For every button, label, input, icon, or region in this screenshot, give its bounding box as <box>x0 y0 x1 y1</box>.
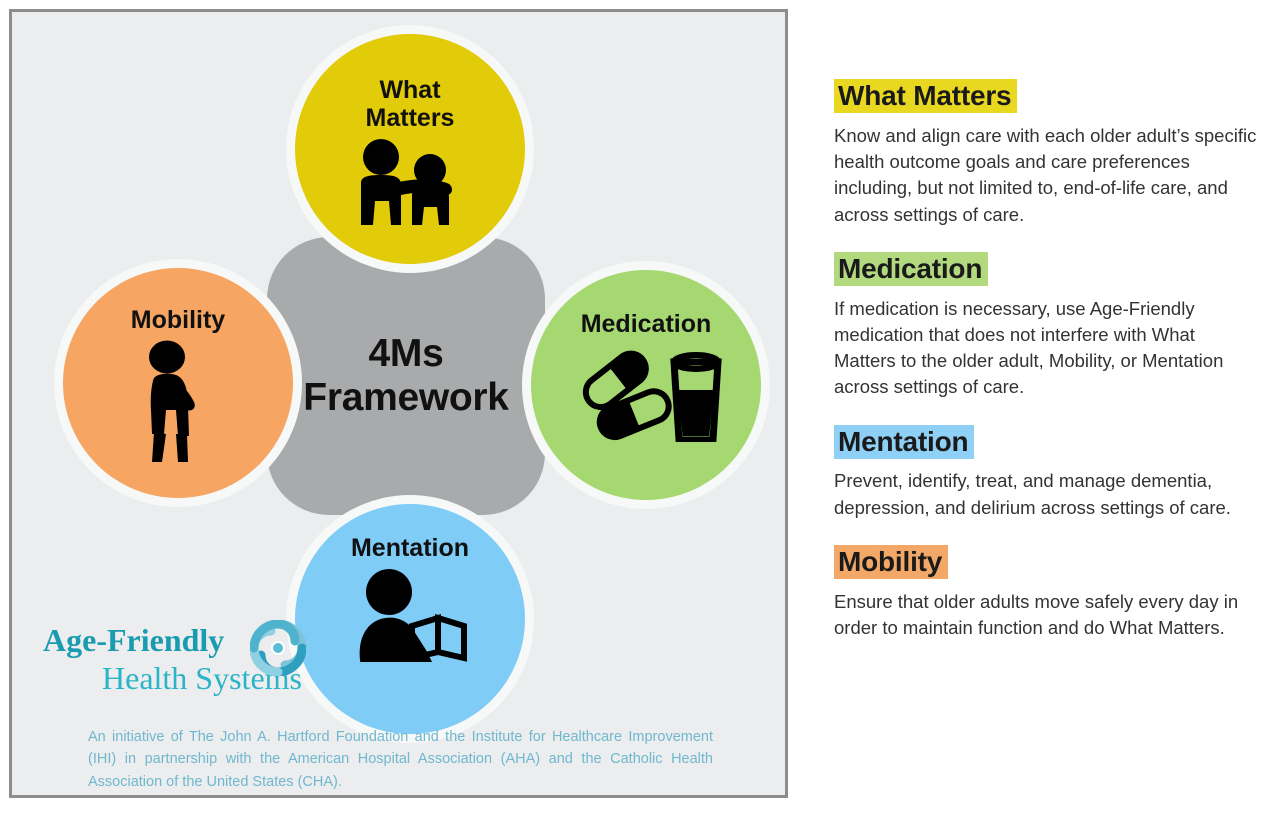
circle-what-matters[interactable]: What Matters <box>295 34 525 264</box>
detail-heading-what-matters: What Matters <box>834 79 1017 113</box>
detail-body-mentation: Prevent, identify, treat, and manage dem… <box>834 468 1258 521</box>
detail-body-what-matters: Know and align care with each older adul… <box>834 123 1258 228</box>
detail-body-medication: If medication is necessary, use Age-Frie… <box>834 296 1258 401</box>
detail-body-mobility: Ensure that older adults move safely eve… <box>834 589 1258 642</box>
attribution-text: An initiative of The John A. Hartford Fo… <box>88 726 713 793</box>
detail-heading-medication: Medication <box>834 252 988 286</box>
walking-person-icon <box>130 340 226 462</box>
framework-diagram-panel: 4Ms Framework What Matters <box>9 9 788 798</box>
pills-and-glass-icon <box>570 350 722 442</box>
circle-what-matters-label: What Matters <box>366 76 455 133</box>
detail-item-medication: Medication If medication is necessary, u… <box>834 249 1258 401</box>
4ms-detail-list: What Matters Know and align care with ea… <box>834 76 1258 662</box>
person-reading-book-icon <box>346 568 474 672</box>
detail-item-mobility: Mobility Ensure that older adults move s… <box>834 542 1258 641</box>
two-people-embrace-icon <box>347 139 473 225</box>
circle-mentation[interactable]: Mentation <box>295 504 525 734</box>
detail-item-mentation: Mentation Prevent, identify, treat, and … <box>834 422 1258 521</box>
circle-medication[interactable]: Medication <box>531 270 761 500</box>
detail-item-what-matters: What Matters Know and align care with ea… <box>834 76 1258 228</box>
detail-heading-mobility: Mobility <box>834 545 948 579</box>
circle-mobility-label: Mobility <box>131 306 225 334</box>
circle-mobility[interactable]: Mobility <box>63 268 293 498</box>
spiral-swirl-icon <box>250 620 306 681</box>
center-hub-label: 4Ms Framework <box>267 332 545 419</box>
logo-line-1: Age-Friendly <box>43 624 224 656</box>
circle-medication-label: Medication <box>581 310 712 338</box>
center-hub: 4Ms Framework <box>267 237 545 515</box>
detail-heading-mentation: Mentation <box>834 425 974 459</box>
circle-mentation-label: Mentation <box>351 534 469 562</box>
age-friendly-health-systems-logo: Age-Friendly Health Systems <box>35 620 315 700</box>
